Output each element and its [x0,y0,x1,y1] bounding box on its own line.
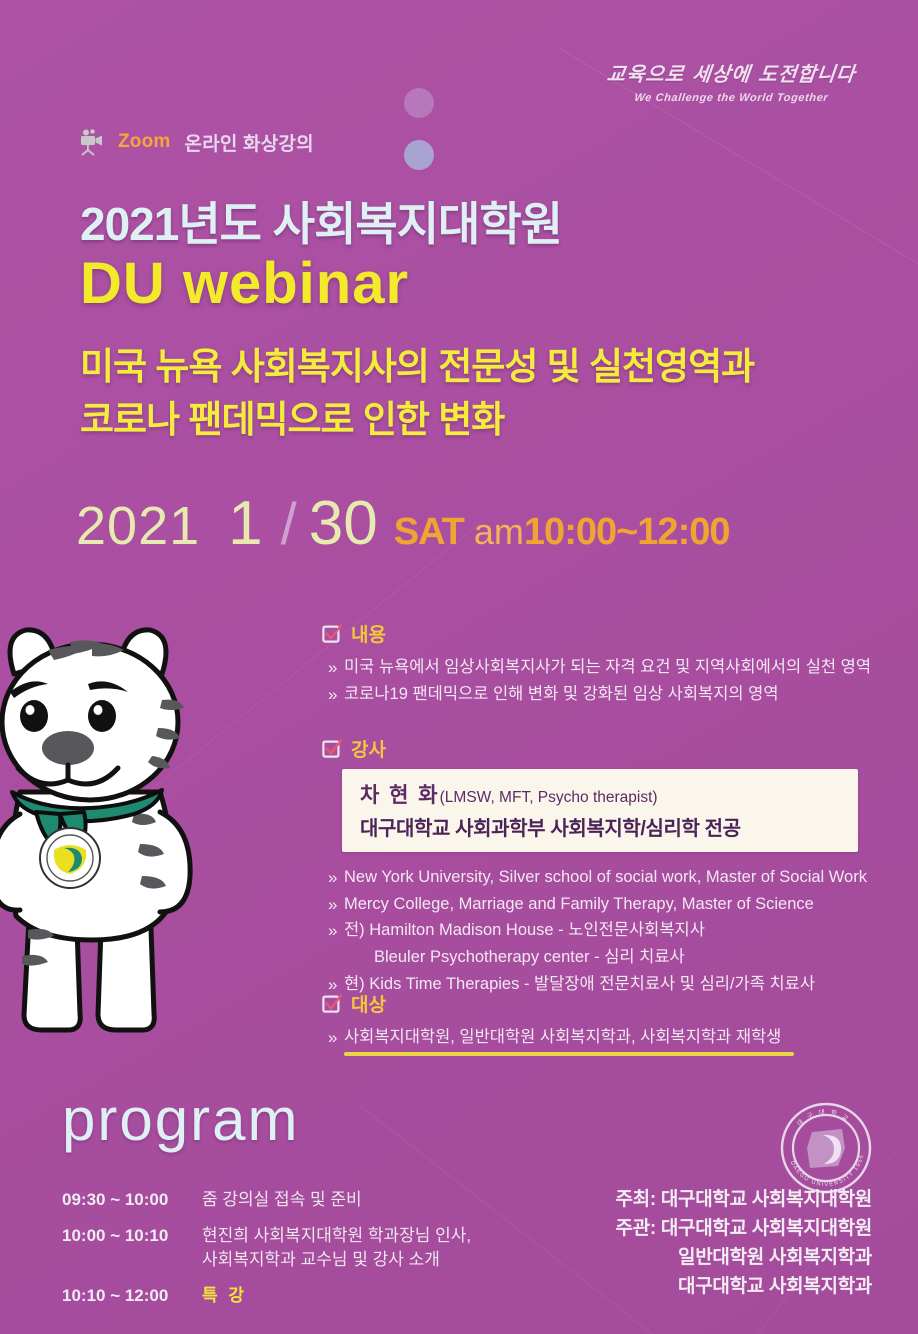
decorative-dot-lower [404,140,434,170]
instructor-affiliation: 대구대학교 사회과학부 사회복지학/심리학 전공 [360,812,842,841]
university-slogan: 교육으로 세상에 도전합니다 We Challenge the World To… [607,58,856,104]
section-contents-list: 미국 뉴욕에서 임상사회복지사가 되는 자격 요건 및 지역사회에서의 실천 영… [322,654,871,707]
instructor-name-row: 차 현 화(LMSW, MFT, Psycho therapist) [360,779,842,809]
program-schedule: 09:30 ~ 10:00 줌 강의실 접속 및 준비 10:00 ~ 10:1… [62,1188,471,1320]
time-range: 10:00~12:00 [524,511,730,554]
section-audience-title: 대상 [351,990,386,1017]
section-audience: 대상 사회복지대학원, 일반대학원 사회복지학과, 사회복지학과 재학생 [322,990,781,1051]
schedule-row: 09:30 ~ 10:00 줌 강의실 접속 및 준비 [62,1188,471,1213]
video-camera-icon [78,128,108,156]
schedule-desc: 줌 강의실 접속 및 준비 [202,1188,362,1213]
list-item: 전) Hamilton Madison House - 노인전문사회복지사 [344,917,867,944]
section-instructor-list: New York University, Silver school of so… [322,864,867,998]
section-instructor-title: 강사 [351,735,386,762]
host-line: 일반대학원 사회복지학과 [615,1244,872,1273]
checkbox-checked-icon [322,624,342,644]
list-item: Bleuler Psychotherapy center - 심리 치료사 [344,944,867,971]
schedule-time: 09:30 ~ 10:00 [62,1188,202,1213]
schedule-desc: 특 강 [202,1284,247,1309]
date-month: 1 [228,488,262,559]
daegu-university-seal: 대 구 대 학 교 DAEGU UNIVERSITY 1956 [776,1098,876,1198]
checkbox-checked-icon [322,739,342,759]
section-contents: 내용 미국 뉴욕에서 임상사회복지사가 되는 자격 요건 및 지역사회에서의 실… [322,620,871,707]
webinar-poster: 교육으로 세상에 도전합니다 We Challenge the World To… [0,0,918,1334]
host-organizations: 주최: 대구대학교 사회복지대학원 주관: 대구대학교 사회복지대학원 일반대학… [615,1186,872,1302]
section-instructor-header: 강사 [322,735,867,762]
schedule-row: 10:00 ~ 10:10 현진희 사회복지대학원 학과장님 인사, 사회복지학… [62,1224,471,1273]
event-date-row: 2021 1 / 30 SAT am 10:00~12:00 [76,488,730,559]
audience-highlight-underline [344,1052,794,1056]
mascot-badge [40,828,100,888]
list-item: Mercy College, Marriage and Family Thera… [344,891,867,918]
schedule-desc-line2: 사회복지학과 교수님 및 강사 소개 [202,1250,440,1269]
online-lecture-label: 온라인 화상강의 [185,129,314,156]
program-heading: program [62,1085,299,1154]
time-meridiem: am [474,511,524,553]
zoom-brand-label: Zoom [118,131,171,153]
date-separator: / [281,491,297,558]
poster-subtitle: 미국 뉴욕 사회복지사의 전문성 및 실천영역과 코로나 팬데믹으로 인한 변화 [80,341,754,446]
schedule-desc: 현진희 사회복지대학원 학과장님 인사, 사회복지학과 교수님 및 강사 소개 [202,1224,471,1273]
section-audience-header: 대상 [322,990,781,1017]
subtitle-line2: 코로나 팬데믹으로 인한 변화 [80,394,754,447]
poster-title-line2: DU webinar [80,250,409,317]
host-line: 대구대학교 사회복지학과 [615,1273,872,1302]
host-line: 주관: 대구대학교 사회복지대학원 [615,1215,872,1244]
section-contents-header: 내용 [322,620,871,647]
section-audience-list: 사회복지대학원, 일반대학원 사회복지학과, 사회복지학과 재학생 [322,1024,781,1051]
schedule-desc-line1: 현진희 사회복지대학원 학과장님 인사, [202,1226,471,1245]
list-item: 사회복지대학원, 일반대학원 사회복지학과, 사회복지학과 재학생 [344,1024,781,1051]
slogan-korean: 교육으로 세상에 도전합니다 [606,58,858,87]
schedule-time: 10:10 ~ 12:00 [62,1284,202,1309]
host-line: 주최: 대구대학교 사회복지대학원 [615,1186,872,1215]
checkbox-checked-icon [322,994,342,1014]
list-item: 미국 뉴욕에서 임상사회복지사가 되는 자격 요건 및 지역사회에서의 실천 영… [344,654,871,681]
decorative-dot-upper [404,88,434,118]
instructor-credentials: (LMSW, MFT, Psycho therapist) [440,789,658,806]
date-year: 2021 [76,495,200,557]
slogan-english: We Challenge the World Together [607,92,857,104]
section-instructor: 강사 차 현 화(LMSW, MFT, Psycho therapist) 대구… [322,735,867,998]
zoom-online-lecture-label: Zoom 온라인 화상강의 [78,128,314,156]
schedule-row: 10:10 ~ 12:00 특 강 [62,1284,471,1309]
instructor-info-box: 차 현 화(LMSW, MFT, Psycho therapist) 대구대학교… [342,769,858,852]
schedule-time: 10:00 ~ 10:10 [62,1224,202,1273]
white-tiger-mascot [0,600,224,1040]
instructor-name: 차 현 화 [360,784,440,807]
section-contents-title: 내용 [351,620,386,647]
subtitle-line1: 미국 뉴욕 사회복지사의 전문성 및 실천영역과 [80,341,754,394]
poster-title-line1: 2021년도 사회복지대학원 [80,188,562,254]
list-item: New York University, Silver school of so… [344,864,867,891]
list-item: 코로나19 팬데믹으로 인해 변화 및 강화된 임상 사회복지의 영역 [344,681,871,708]
date-weekday: SAT [394,511,464,554]
date-day: 30 [309,488,378,559]
